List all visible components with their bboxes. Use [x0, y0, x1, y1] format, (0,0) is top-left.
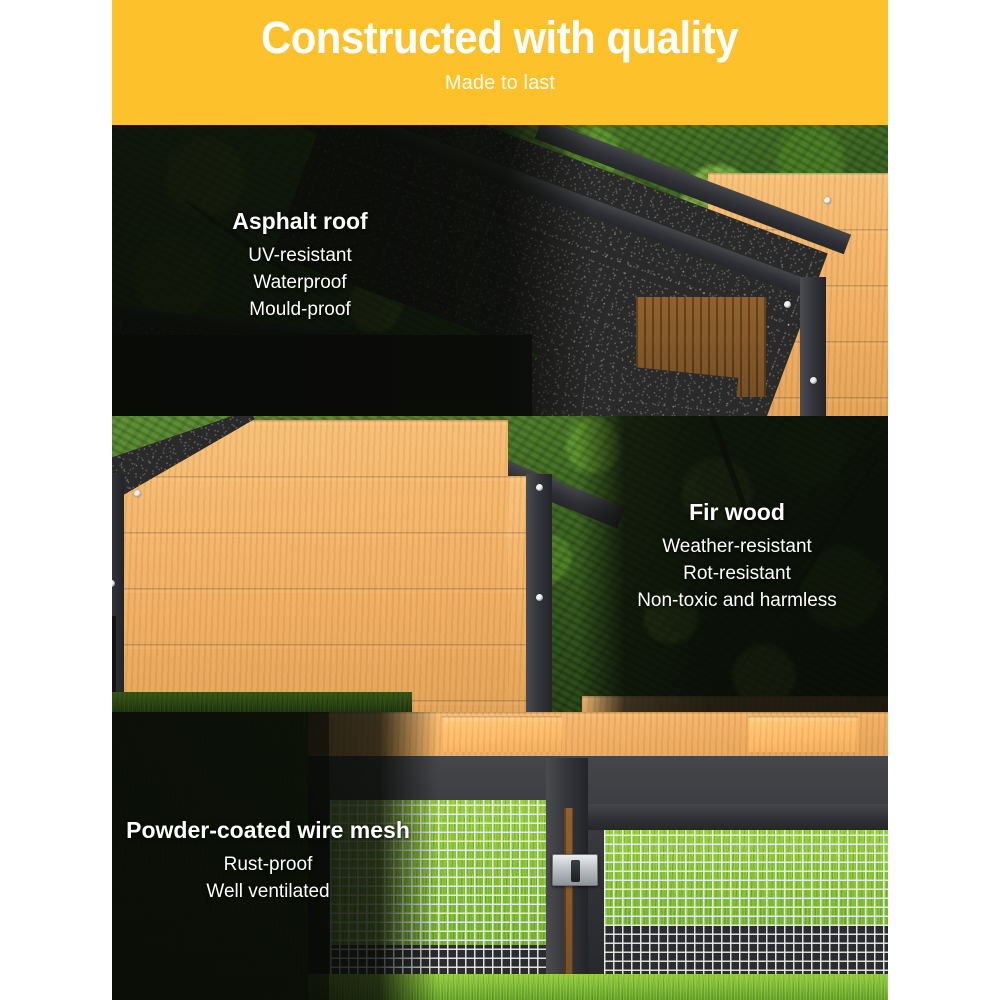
feature-item: Rust-proof	[118, 852, 418, 879]
screw-icon	[536, 594, 543, 601]
page-subtitle: Made to last	[445, 72, 555, 95]
screw-icon	[784, 301, 791, 308]
screw-icon	[536, 484, 543, 491]
mesh-opening-right	[604, 830, 888, 980]
caption-fir-wood: Fir wood Weather-resistant Rot-resistant…	[592, 498, 882, 615]
feature-item: Rot-resistant	[592, 561, 882, 588]
feature-item: Well ventilated	[118, 879, 418, 906]
caption-heading: Asphalt roof	[170, 207, 430, 236]
feature-item: Weather-resistant	[592, 534, 882, 561]
caption-feature-list: Rust-proof Well ventilated	[118, 852, 418, 906]
caption-feature-list: UV-resistant Waterproof Mould-proof	[170, 243, 430, 324]
infographic-page: Constructed with quality Made to last	[0, 0, 1000, 1000]
content-column: Constructed with quality Made to last	[112, 0, 888, 1000]
screw-icon	[810, 377, 817, 384]
grass-strip	[112, 692, 412, 712]
latch-hardware-icon[interactable]	[552, 854, 598, 886]
feature-item: Waterproof	[170, 270, 430, 297]
caption-heading: Powder-coated wire mesh	[118, 816, 418, 845]
panel-fir-wood: Fir wood Weather-resistant Rot-resistant…	[112, 416, 888, 712]
wood-plank-segment	[748, 716, 858, 752]
door-top-rail	[588, 804, 888, 830]
feature-item: UV-resistant	[170, 243, 430, 270]
wire-mesh-overlay	[604, 830, 888, 980]
caption-asphalt-roof: Asphalt roof UV-resistant Waterproof Mou…	[170, 207, 430, 324]
feature-item: Non-toxic and harmless	[592, 588, 882, 615]
door-edge-wood	[564, 808, 573, 994]
header-banner: Constructed with quality Made to last	[112, 0, 888, 125]
caption-wire-mesh: Powder-coated wire mesh Rust-proof Well …	[118, 816, 418, 906]
corner-post	[800, 277, 826, 416]
wood-plank-segment	[442, 716, 562, 752]
corner-post-right	[526, 474, 552, 712]
caption-heading: Fir wood	[592, 498, 882, 527]
screw-icon	[134, 490, 141, 497]
fir-wood-gable	[122, 420, 508, 712]
page-title: Constructed with quality	[261, 14, 738, 61]
panel-asphalt-roof: Asphalt roof UV-resistant Waterproof Mou…	[112, 125, 888, 416]
feature-item: Mould-proof	[170, 297, 430, 324]
panel-wire-mesh: Powder-coated wire mesh Rust-proof Well …	[112, 712, 888, 1000]
caption-feature-list: Weather-resistant Rot-resistant Non-toxi…	[592, 534, 882, 615]
latch-pin-icon	[571, 860, 580, 882]
screw-icon	[824, 197, 831, 204]
